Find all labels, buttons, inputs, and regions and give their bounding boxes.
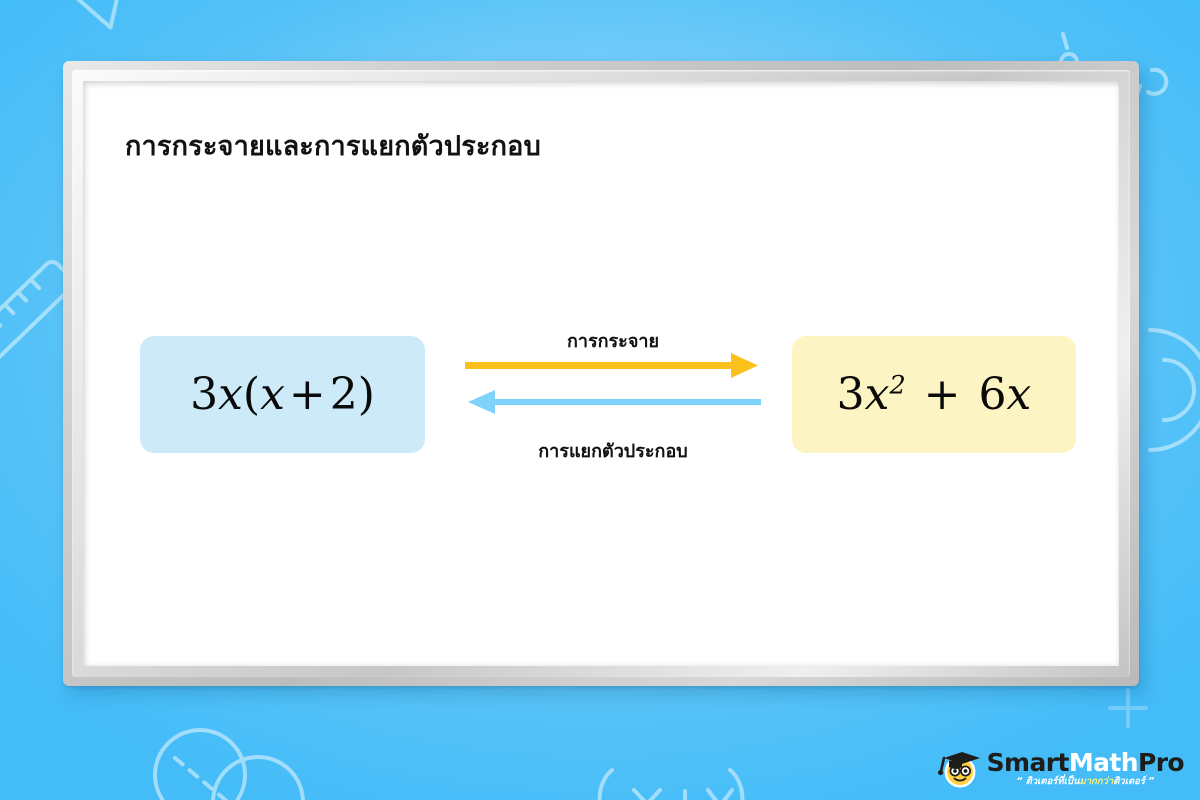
logo-tagline-before: “ ติวเตอร์ที่เป็น bbox=[1016, 776, 1079, 787]
slide-canvas: การกระจายและการแยกตัวประกอบ 3x(x+2) การก… bbox=[0, 0, 1200, 800]
ruler-triangle-doodle bbox=[55, 0, 147, 39]
venn-circles-doodle bbox=[155, 730, 303, 800]
backward-arrow-label: การแยกตัวประกอบ bbox=[453, 436, 773, 465]
logo-tagline: “ ติวเตอร์ที่เป็นมากกว่าติวเตอร์ ” bbox=[1016, 777, 1154, 787]
forward-arrow-icon bbox=[465, 353, 758, 378]
logo-tagline-after: ติวเตอร์ ” bbox=[1113, 776, 1154, 787]
arc-compass-doodle bbox=[1150, 330, 1200, 450]
page-title: การกระจายและการแยกตัวประกอบ bbox=[125, 124, 541, 167]
plus-doodle bbox=[1110, 690, 1146, 726]
whiteboard: การกระจายและการแยกตัวประกอบ 3x(x+2) การก… bbox=[63, 61, 1139, 686]
logo-tagline-highlight: มากกว่า bbox=[1079, 776, 1113, 787]
arrow-group: การกระจาย bbox=[453, 326, 773, 471]
transformation-diagram: 3x(x+2) การกระจาย bbox=[83, 336, 1119, 471]
graduation-cap-smiley-icon bbox=[935, 746, 981, 790]
brand-logo: SmartMathPro “ ติวเตอร์ที่เป็นมากกว่าติว… bbox=[935, 746, 1184, 790]
logo-word-math: Math bbox=[1069, 748, 1138, 777]
backward-arrow-icon bbox=[468, 390, 761, 414]
logo-word-pro: Pro bbox=[1138, 748, 1184, 777]
factored-expression-box: 3x(x+2) bbox=[140, 336, 425, 453]
whiteboard-frame-bevel: การกระจายและการแยกตัวประกอบ 3x(x+2) การก… bbox=[72, 70, 1130, 677]
expanded-expression-box: 3x2 + 6x bbox=[792, 336, 1076, 453]
logo-wordmark: SmartMathPro bbox=[987, 750, 1184, 775]
logo-text: SmartMathPro “ ติวเตอร์ที่เป็นมากกว่าติว… bbox=[987, 750, 1184, 787]
expression-doodle bbox=[600, 770, 743, 800]
expanded-expression-text: 3x2 + 6x bbox=[837, 373, 1032, 417]
whiteboard-surface: การกระจายและการแยกตัวประกอบ 3x(x+2) การก… bbox=[83, 81, 1119, 666]
factored-expression-text: 3x(x+2) bbox=[190, 373, 375, 417]
logo-word-smart: Smart bbox=[987, 748, 1069, 777]
